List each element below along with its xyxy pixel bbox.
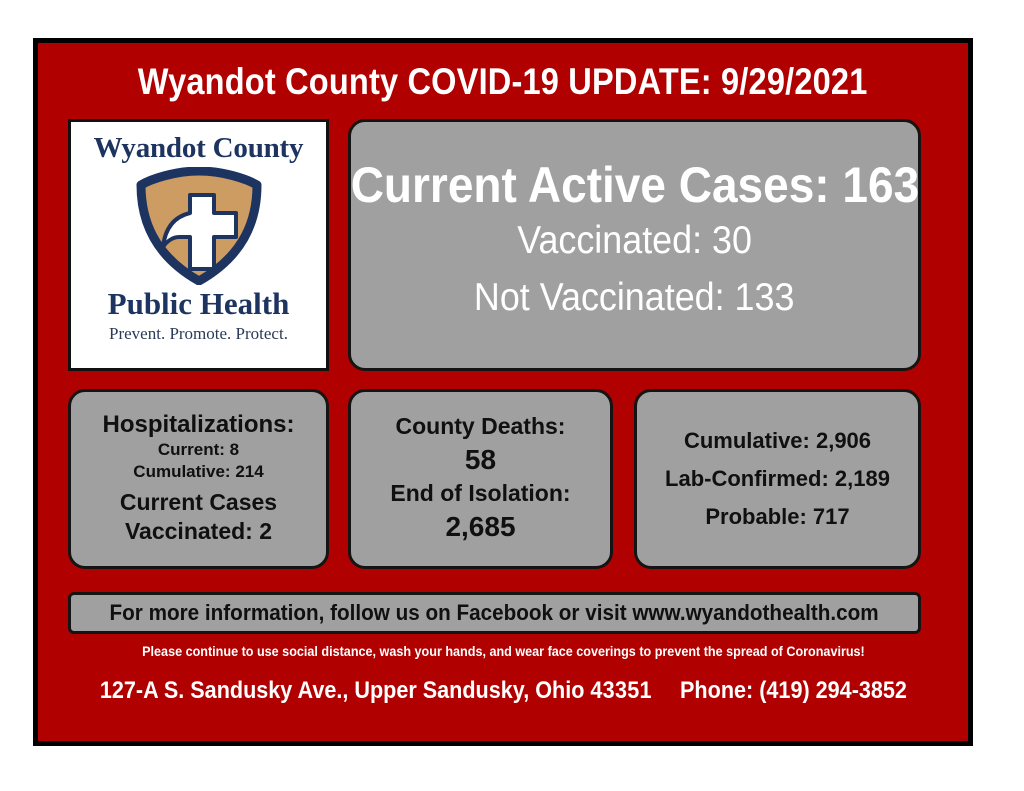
more-information-bar[interactable]: For more information, follow us on Faceb… bbox=[68, 592, 921, 634]
active-cases-not-vaccinated: Not Vaccinated: 133 bbox=[474, 270, 794, 327]
poster-title-text: Wyandot County COVID-19 UPDATE: 9/29/202… bbox=[138, 61, 868, 103]
cumulative-total: Cumulative: 2,906 bbox=[684, 429, 871, 453]
more-information-text: For more information, follow us on Faceb… bbox=[110, 600, 879, 626]
footer-phone: Phone: (419) 294-3852 bbox=[680, 677, 907, 704]
cumulative-cases-card: Cumulative: 2,906 Lab-Confirmed: 2,189 P… bbox=[634, 389, 921, 569]
hospitalizations-card: Hospitalizations: Current: 8 Cumulative:… bbox=[68, 389, 329, 569]
footer-address: 127-A S. Sandusky Ave., Upper Sandusky, … bbox=[99, 677, 584, 704]
active-cases-panel: Current Active Cases: 163 Vaccinated: 30… bbox=[348, 119, 921, 371]
footer-address-line: 127-A S. Sandusky Ave., Upper Sandusky, … bbox=[99, 677, 906, 705]
current-cases-vaccinated: Vaccinated: 2 bbox=[125, 517, 272, 547]
end-of-isolation-value: 2,685 bbox=[445, 509, 515, 546]
end-of-isolation-label: End of Isolation: bbox=[390, 479, 570, 509]
footer-advisory: Please continue to use social distance, … bbox=[142, 643, 865, 659]
hospitalizations-current: Current: 8 bbox=[158, 439, 239, 461]
logo-tagline: Prevent. Promote. Protect. bbox=[109, 324, 288, 344]
county-deaths-heading: County Deaths: bbox=[396, 412, 566, 442]
active-cases-headline: Current Active Cases: 163 bbox=[350, 157, 918, 213]
active-cases-vaccinated: Vaccinated: 30 bbox=[517, 213, 752, 270]
agency-logo: Wyandot County Public Health Prevent. Pr… bbox=[68, 119, 329, 371]
logo-line-wyandot-county: Wyandot County bbox=[94, 132, 304, 165]
covid-update-poster: Wyandot County COVID-19 UPDATE: 9/29/202… bbox=[33, 38, 973, 746]
county-deaths-value: 58 bbox=[465, 442, 496, 479]
current-cases-label: Current Cases bbox=[120, 488, 277, 518]
poster-footer: Please continue to use social distance, … bbox=[38, 643, 968, 705]
county-deaths-card: County Deaths: 58 End of Isolation: 2,68… bbox=[348, 389, 613, 569]
probable-total: Probable: 717 bbox=[705, 505, 849, 529]
logo-line-public-health: Public Health bbox=[108, 286, 290, 322]
hospitalizations-heading: Hospitalizations: bbox=[102, 411, 294, 439]
shield-cross-icon bbox=[133, 167, 265, 285]
poster-title: Wyandot County COVID-19 UPDATE: 9/29/202… bbox=[38, 61, 968, 103]
footer-zip: 43351 bbox=[590, 677, 651, 704]
hospitalizations-cumulative: Cumulative: 214 bbox=[133, 461, 263, 483]
lab-confirmed-total: Lab-Confirmed: 2,189 bbox=[665, 467, 890, 491]
